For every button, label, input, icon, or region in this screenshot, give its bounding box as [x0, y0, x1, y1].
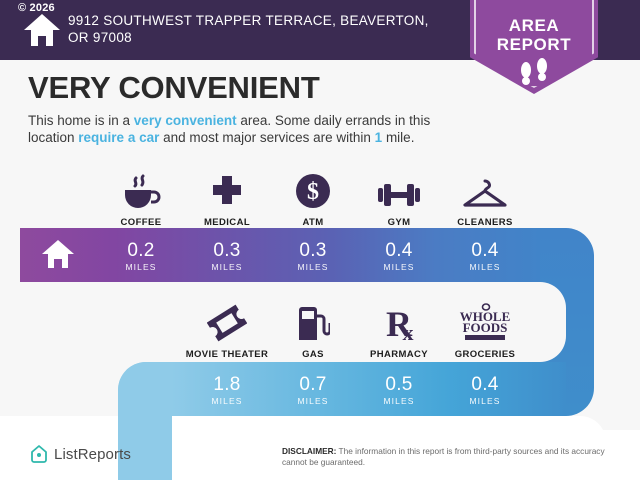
area-report-badge-text: AREA REPORT — [470, 16, 598, 54]
listreports-logo-text: ListReports — [54, 446, 131, 463]
distance-unit: MILES — [98, 262, 184, 272]
category-medical: MEDICAL — [184, 168, 270, 228]
dollar-circle-icon: $ — [270, 168, 356, 210]
rx-icon: R x — [356, 300, 442, 342]
disclaimer: DISCLAIMER: The information in this repo… — [282, 446, 612, 468]
category-label: MEDICAL — [184, 217, 270, 228]
distance-unit: MILES — [356, 396, 442, 406]
copyright-watermark: © 2026 — [18, 2, 55, 14]
category-label: ATM — [270, 217, 356, 228]
category-gym: GYM — [356, 168, 442, 228]
category-groceries: WHOLE FOODS GROCERIES — [442, 300, 528, 360]
distance-atm: 0.3 MILES — [270, 240, 356, 272]
category-atm: $ ATM — [270, 168, 356, 228]
category-label: MOVIE THEATER — [184, 349, 270, 360]
category-label: GYM — [356, 217, 442, 228]
distance-gas: 0.7 MILES — [270, 374, 356, 406]
distance-movie-theater: 1.8 MILES — [184, 374, 270, 406]
distance-unit: MILES — [270, 396, 356, 406]
distance-cleaners: 0.4 MILES — [442, 240, 528, 272]
movie-ticket-icon — [184, 300, 270, 342]
category-coffee: COFFEE — [98, 168, 184, 228]
svg-text:x: x — [403, 320, 414, 342]
distance-unit: MILES — [442, 262, 528, 272]
distance-value: 0.4 — [442, 240, 528, 261]
distance-value: 0.2 — [98, 240, 184, 261]
distance-value: 0.3 — [270, 240, 356, 261]
category-label: PHARMACY — [356, 349, 442, 360]
distance-unit: MILES — [442, 396, 528, 406]
gas-pump-icon — [270, 300, 356, 342]
category-movie-theater: MOVIE THEATER — [184, 300, 270, 360]
home-marker — [20, 228, 95, 280]
coffee-cup-icon — [98, 168, 184, 210]
hanger-icon — [442, 168, 528, 210]
distance-unit: MILES — [356, 262, 442, 272]
distance-unit: MILES — [184, 262, 270, 272]
whole-foods-icon: WHOLE FOODS — [442, 300, 528, 342]
distance-value: 0.4 — [442, 374, 528, 395]
distance-value: 1.8 — [184, 374, 270, 395]
category-label: CLEANERS — [442, 217, 528, 228]
distance-value: 0.4 — [356, 240, 442, 261]
badge-line-1: AREA — [470, 16, 598, 35]
distance-groceries: 0.4 MILES — [442, 374, 528, 406]
disclaimer-label: DISCLAIMER: — [282, 446, 336, 456]
category-pharmacy: R x PHARMACY — [356, 300, 442, 360]
distance-value: 0.5 — [356, 374, 442, 395]
distance-coffee: 0.2 MILES — [98, 240, 184, 272]
listreports-logo[interactable]: ListReports — [30, 444, 131, 464]
distance-value: 0.7 — [270, 374, 356, 395]
badge-line-2: REPORT — [470, 35, 598, 54]
medical-cross-icon — [184, 168, 270, 210]
category-label: COFFEE — [98, 217, 184, 228]
category-label: GAS — [270, 349, 356, 360]
distance-unit: MILES — [270, 262, 356, 272]
category-cleaners: CLEANERS — [442, 168, 528, 228]
footprints-icon — [470, 58, 598, 88]
category-label: GROCERIES — [442, 349, 528, 360]
svg-text:FOODS: FOODS — [463, 320, 508, 335]
distance-value: 0.3 — [184, 240, 270, 261]
area-report-page: © 2026 9912 SOUTHWEST TRAPPER TERRACE, B… — [0, 0, 640, 480]
distance-medical: 0.3 MILES — [184, 240, 270, 272]
distance-pharmacy: 0.5 MILES — [356, 374, 442, 406]
distance-unit: MILES — [184, 396, 270, 406]
dumbbell-icon — [356, 168, 442, 210]
svg-text:$: $ — [307, 179, 319, 205]
listreports-house-icon — [30, 444, 48, 464]
distance-gym: 0.4 MILES — [356, 240, 442, 272]
category-gas: GAS — [270, 300, 356, 360]
